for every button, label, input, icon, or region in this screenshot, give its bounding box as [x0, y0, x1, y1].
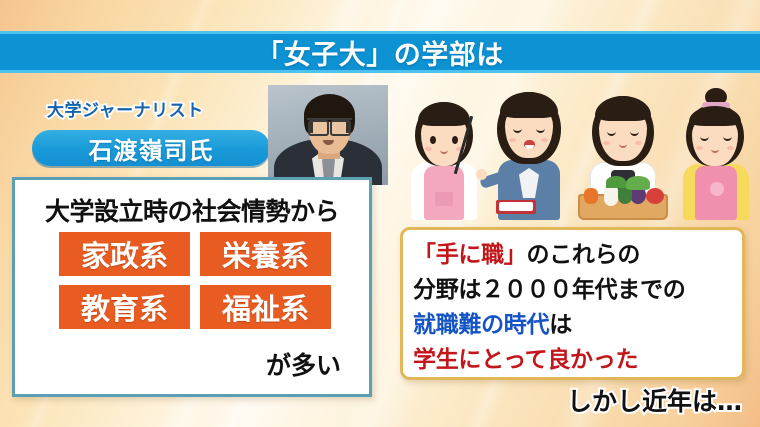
speaker-name: 石渡嶺司氏 [89, 131, 214, 166]
vegetable-leaf [606, 176, 626, 188]
vegetable-tomato [646, 188, 664, 204]
right-panel-line-3: 就職難の時代は [413, 308, 742, 343]
bottom-caption: しかし近年は… [567, 382, 742, 418]
homemaker-apron-flower [710, 182, 724, 196]
right-line3-segment-2: は [549, 312, 572, 338]
nutritionist-bangs [595, 96, 651, 121]
teacher-mouth [524, 140, 535, 149]
faculty-tag-kaseikei: 家政系 [59, 232, 190, 276]
teacher-hand [476, 169, 487, 180]
speaker-photo [268, 85, 388, 185]
right-panel-line-2: 分野は２０００年代までの [413, 273, 742, 308]
nutritionist-cheek-right [635, 141, 642, 145]
glasses-icon [307, 118, 352, 130]
homemaker-cheek-left [696, 146, 703, 150]
homemaker-cheek-right [727, 146, 734, 150]
right-line2-segment-1: 分野は２０００年代までの [413, 277, 685, 303]
right-line4-segment-1: 学生にとって良かった [413, 347, 638, 373]
caregiver-bangs [418, 102, 470, 126]
faculty-tag-kyouikukei: 教育系 [59, 285, 190, 329]
faculty-tag-fukushikei: 福祉系 [200, 285, 331, 329]
teacher-book-pages [499, 202, 533, 211]
right-line1-segment-1: 「手に職」 [413, 242, 527, 268]
figure-caregiver [405, 92, 483, 220]
teacher-cheek-right [541, 138, 548, 142]
left-panel-heading: 大学設立時の社会情勢から [15, 192, 369, 228]
faculty-tag-grid: 家政系 栄養系 教育系 福祉系 [59, 232, 331, 329]
homemaker-bangs [689, 106, 741, 126]
faculty-tag-eiyoukei: 栄養系 [200, 232, 331, 276]
title-banner: 「女子大」の学部は [0, 31, 760, 73]
right-line3-segment-1: 就職難の時代 [413, 312, 549, 338]
caregiver-pocket [435, 192, 453, 206]
vegetable-carrot [584, 188, 598, 204]
caregiver-eye-right [452, 136, 458, 144]
right-panel-line-1: 「手に職」のこれらの [413, 238, 742, 273]
caregiver-eye-left [430, 136, 436, 144]
right-line1-segment-2: のこれらの [527, 242, 641, 268]
figure-homemaker [677, 90, 755, 220]
right-info-panel: 「手に職」のこれらの 分野は２０００年代までの 就職難の時代は 学生にとって良か… [400, 227, 745, 380]
page-title: 「女子大」の学部は [256, 33, 504, 72]
right-panel-line-4: 学生にとって良かった [413, 343, 742, 378]
vegetable-greens [626, 176, 650, 190]
figure-nutritionist [580, 88, 666, 220]
teacher-cheek-left [509, 138, 516, 142]
left-info-panel: 大学設立時の社会情勢から 家政系 栄養系 教育系 福祉系 が多い [12, 177, 372, 397]
teacher-bangs [500, 92, 558, 118]
figure-teacher [488, 86, 570, 220]
speaker-name-pill: 石渡嶺司氏 [32, 130, 270, 166]
nutritionist-cheek-left [603, 141, 610, 145]
speaker-role-label: 大学ジャーナリスト [47, 96, 204, 121]
left-panel-footer: が多い [266, 346, 341, 382]
four-women-illustration [395, 82, 760, 220]
caregiver-cheek-left [425, 147, 432, 151]
